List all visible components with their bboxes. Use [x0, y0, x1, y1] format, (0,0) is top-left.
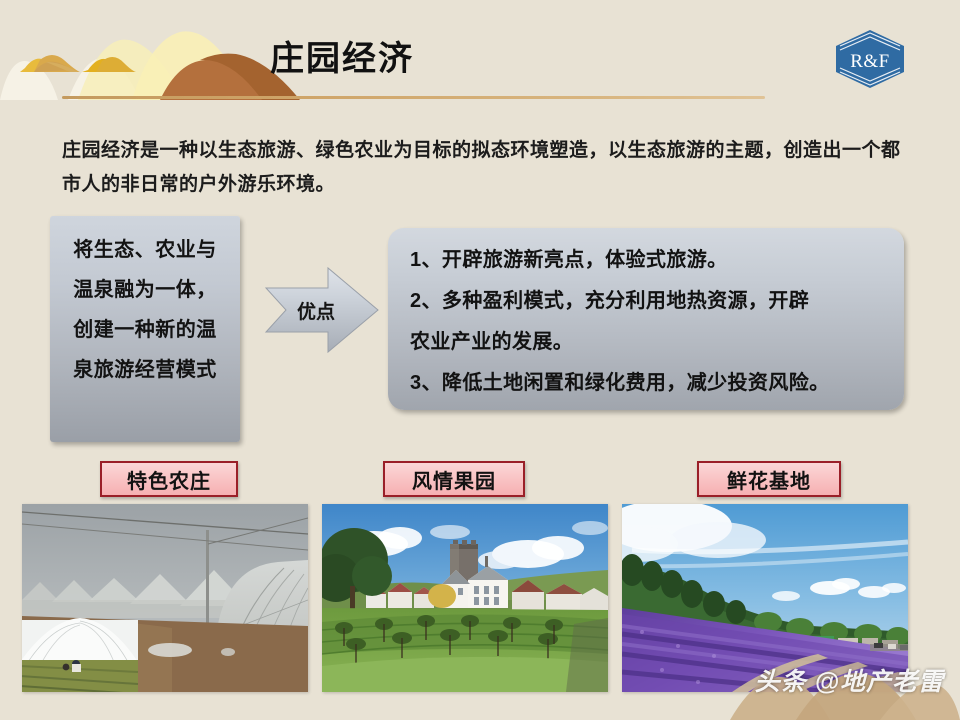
concept-line-2: 温泉融为一体，	[50, 270, 240, 310]
concept-line-3: 创建一种新的温	[50, 310, 240, 350]
page-title: 庄园经济	[270, 42, 414, 76]
caption-badge-flower: 鲜花基地	[697, 461, 841, 497]
rf-logo: R&F	[832, 28, 908, 90]
slide-canvas: 庄园经济 R&F 庄园经济是一种以生态旅游、绿色农业为目标的拟态环境塑造，以生态…	[0, 0, 960, 720]
greenhouse-farm-photo	[22, 504, 308, 692]
advantage-line-2: 2、多种盈利模式，充分利用地热资源，开辟	[410, 281, 886, 322]
vineyard-village-photo	[322, 504, 608, 692]
advantages-panel: 1、开辟旅游新亮点，体验式旅游。 2、多种盈利模式，充分利用地热资源，开辟 农业…	[388, 228, 904, 410]
title-underline-rule	[62, 96, 765, 99]
caption-badge-orchard: 风情果园	[383, 461, 525, 497]
concept-panel: 将生态、农业与 温泉融为一体， 创建一种新的温 泉旅游经营模式	[50, 216, 240, 442]
advantage-line-3: 农业产业的发展。	[410, 322, 886, 363]
watermark-text: 头条 @地产老雷	[755, 662, 944, 698]
intro-paragraph: 庄园经济是一种以生态旅游、绿色农业为目标的拟态环境塑造，以生态旅游的主题，创造出…	[62, 134, 902, 202]
svg-text:R&F: R&F	[850, 51, 890, 72]
decorative-mountains-top-icon	[0, 0, 300, 110]
caption-badge-farm: 特色农庄	[100, 461, 238, 497]
concept-line-1: 将生态、农业与	[50, 230, 240, 270]
advantage-line-4: 3、降低土地闲置和绿化费用，减少投资风险。	[410, 363, 886, 404]
advantage-line-1: 1、开辟旅游新亮点，体验式旅游。	[410, 240, 886, 281]
right-arrow-icon	[264, 262, 380, 358]
concept-line-4: 泉旅游经营模式	[50, 350, 240, 390]
